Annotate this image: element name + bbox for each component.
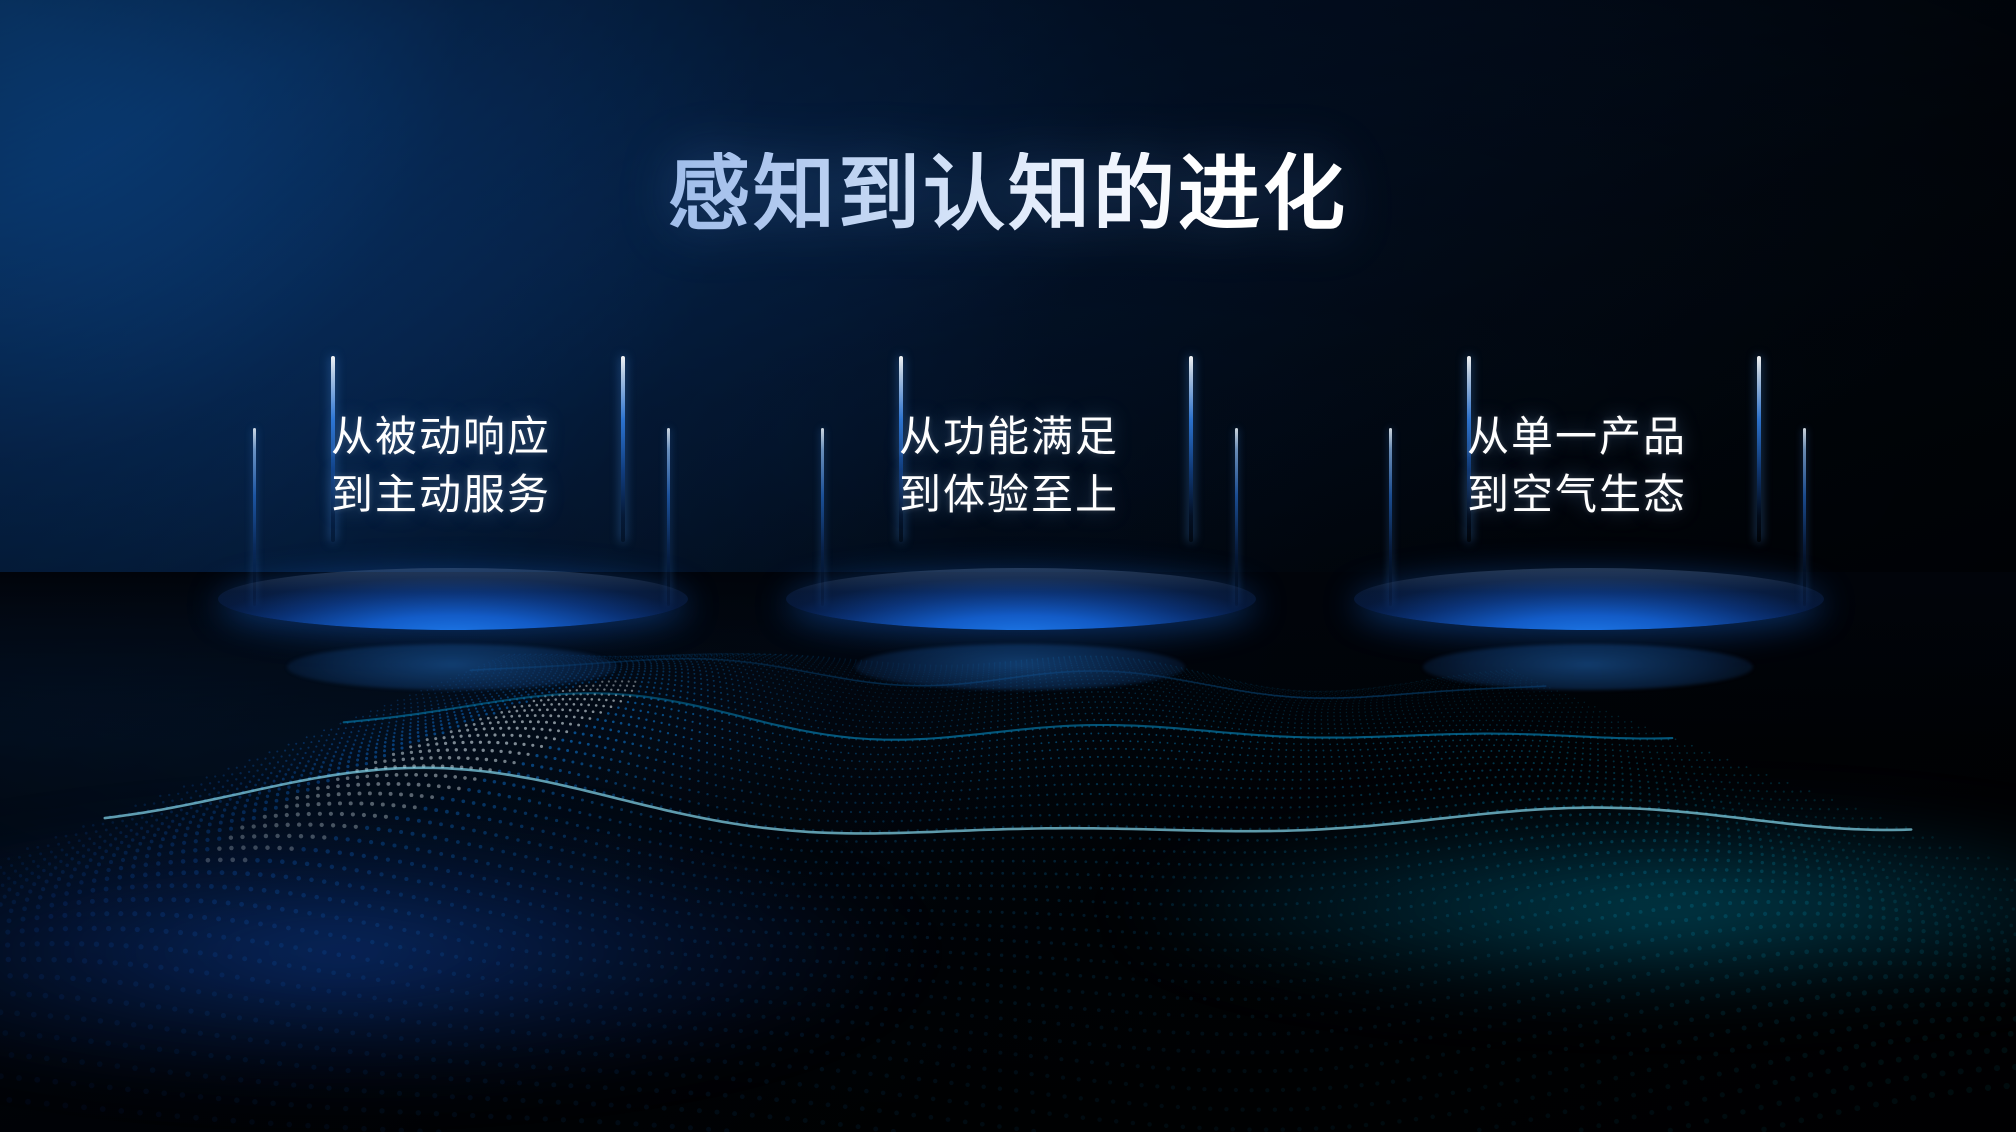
pillar-card-1-text: 从被动响应 到主动服务 [331, 408, 631, 524]
pillar-card-1-platform [218, 568, 688, 630]
pillar-card-2-platform-shadow [855, 644, 1185, 690]
pillar-card-1-platform-shadow [287, 644, 617, 690]
light-bar-outer-left-icon [821, 428, 824, 606]
pillar-card-2-line1: 从功能满足 [899, 408, 1199, 466]
light-bar-outer-left-icon [1389, 428, 1392, 606]
slide-canvas: 感知到认知的进化 从被动响应 到主动服务 从功能满足 到体验至上 [0, 0, 2016, 1132]
page-title: 感知到认知的进化 [668, 152, 1348, 238]
pillar-card-3[interactable]: 从单一产品 到空气生态 [1341, 356, 1811, 676]
pillar-card-2-text: 从功能满足 到体验至上 [899, 408, 1199, 524]
pillar-card-1[interactable]: 从被动响应 到主动服务 [205, 356, 675, 676]
pillar-card-3-text: 从单一产品 到空气生态 [1467, 408, 1767, 524]
light-bar-outer-right-icon [1803, 428, 1806, 606]
title-container: 感知到认知的进化 [0, 152, 2016, 238]
light-bar-outer-right-icon [1235, 428, 1238, 606]
pillar-card-3-line1: 从单一产品 [1467, 408, 1767, 466]
pillar-card-3-platform-shadow [1423, 644, 1753, 690]
pillar-card-2-platform [786, 568, 1256, 630]
pillar-card-3-line2: 到空气生态 [1467, 466, 1767, 524]
pillar-card-2[interactable]: 从功能满足 到体验至上 [773, 356, 1243, 676]
pillar-card-row: 从被动响应 到主动服务 从功能满足 到体验至上 [0, 356, 2016, 676]
pillar-card-1-line1: 从被动响应 [331, 408, 631, 466]
pillar-card-3-platform [1354, 568, 1824, 630]
pillar-card-2-line2: 到体验至上 [899, 466, 1199, 524]
light-bar-outer-right-icon [667, 428, 670, 606]
light-bar-outer-left-icon [253, 428, 256, 606]
pillar-card-1-line2: 到主动服务 [331, 466, 631, 524]
